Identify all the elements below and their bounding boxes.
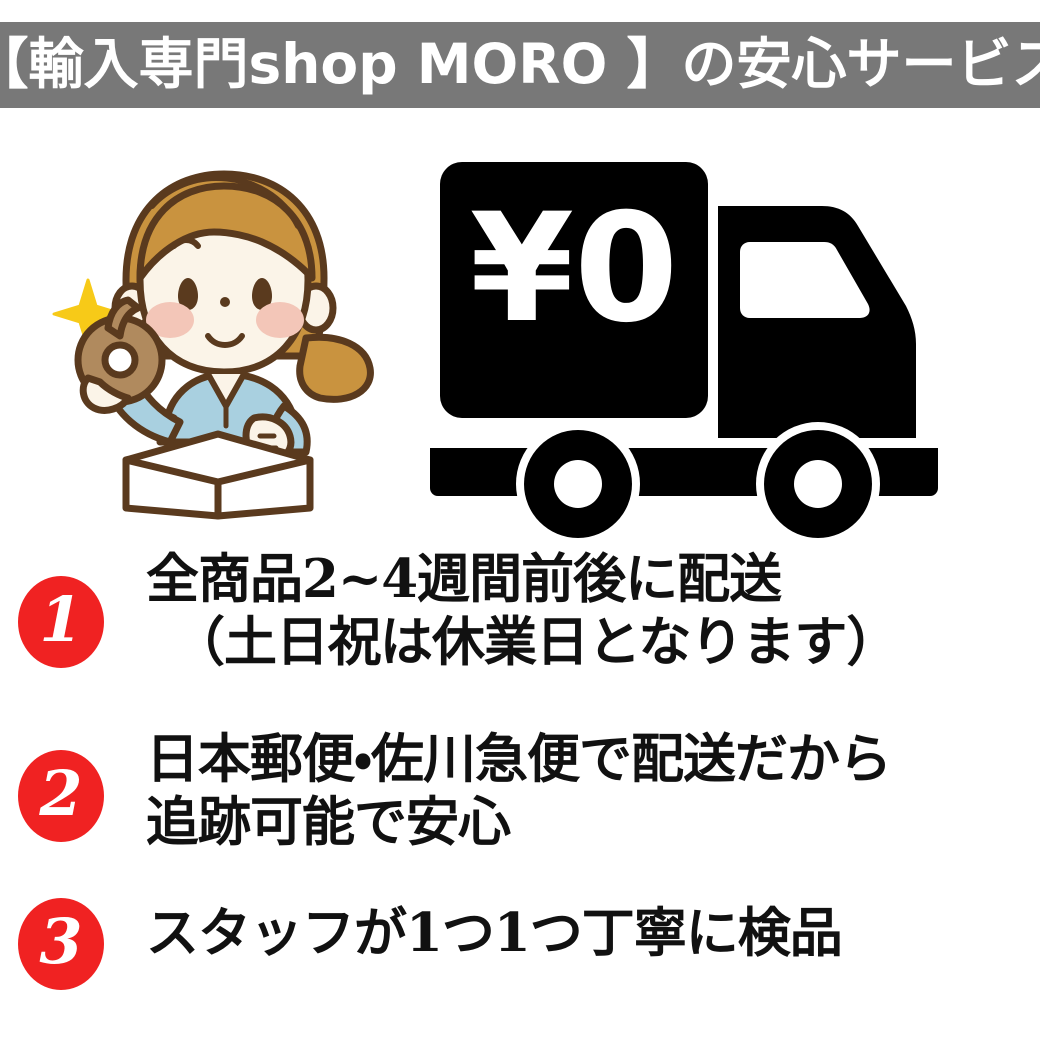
feature-text-3: スタッフが1つ1つ丁寧に検品 (146, 902, 1030, 965)
feature-item-2: 2 日本郵便・佐川急便で配送だから 追跡可能で安心 (0, 728, 1040, 888)
feature-text-1: 全商品2~4週間前後に配送 （土日祝は休業日となります） (146, 548, 1030, 673)
feature-line: 追跡可能で安心 (146, 791, 1030, 854)
feature-line: 全商品2~4週間前後に配送 (146, 548, 1030, 611)
truck-cab (718, 206, 916, 438)
header-banner: 【輸入専門shop MORO 】の安心サービス (0, 22, 1040, 108)
feature-list: 1 全商品2~4週間前後に配送 （土日祝は休業日となります） 2 日本郵便・佐川… (0, 548, 1040, 1018)
feature-badge-1: 1 (18, 576, 104, 668)
feature-line: 日本郵便・佐川急便で配送だから (146, 728, 1030, 791)
free-shipping-truck-illustration: ¥0 (418, 148, 998, 528)
feature-badge-3: 3 (18, 898, 104, 990)
feature-line: （土日祝は休業日となります） (146, 611, 1030, 674)
truck-cargo-label: ¥0 (470, 182, 679, 356)
feature-item-1: 1 全商品2~4週間前後に配送 （土日祝は休業日となります） (0, 548, 1040, 728)
feature-text-2: 日本郵便・佐川急便で配送だから 追跡可能で安心 (146, 728, 1030, 853)
feature-item-3: 3 スタッフが1つ1つ丁寧に検品 (0, 888, 1040, 1018)
staff-packing-box-illustration (48, 160, 388, 520)
page-title: 【輸入専門shop MORO 】の安心サービス (0, 37, 1040, 92)
feature-badge-2: 2 (18, 750, 104, 842)
feature-line: スタッフが1つ1つ丁寧に検品 (146, 902, 1030, 965)
illustration-band: ¥0 (0, 120, 1040, 540)
